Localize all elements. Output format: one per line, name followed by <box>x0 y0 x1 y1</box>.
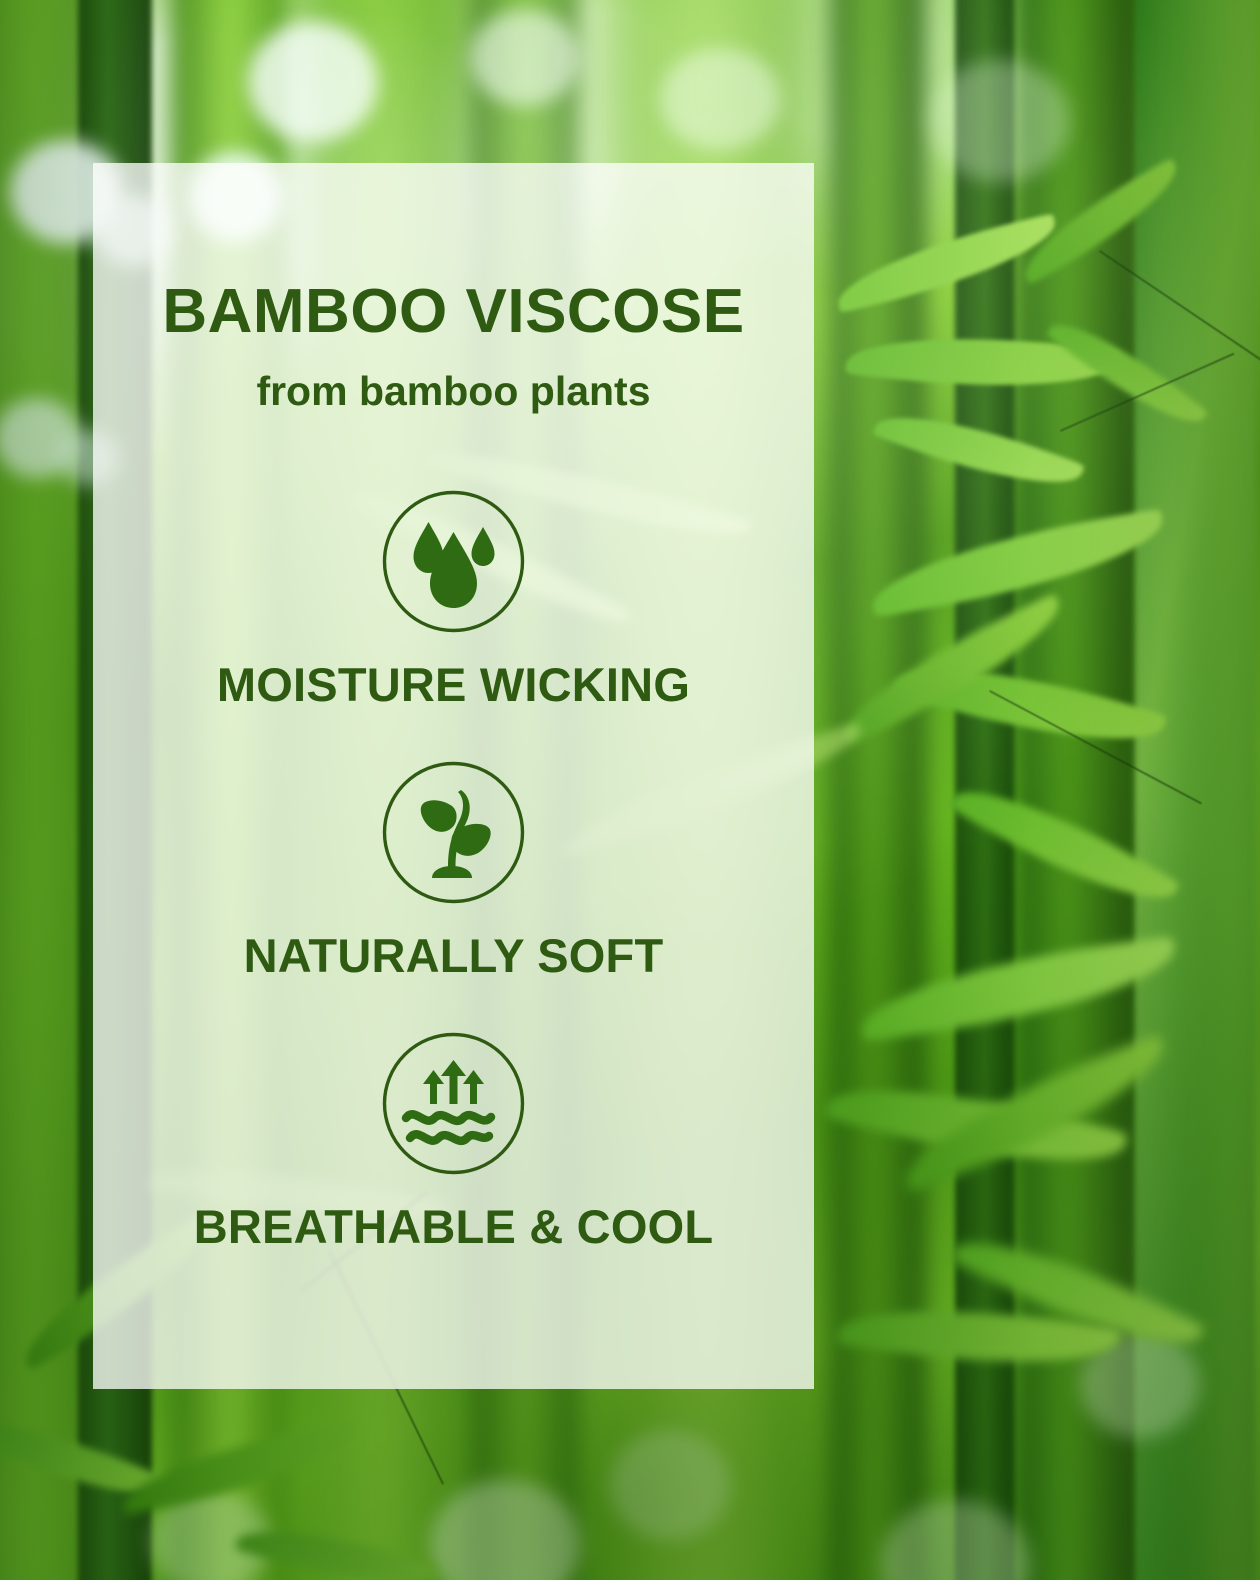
sprout-plant-icon <box>382 761 525 904</box>
breathable-airflow-icon <box>382 1032 525 1175</box>
water-droplets-icon <box>382 490 525 633</box>
feature-item-breathable-cool: BREATHABLE & COOL <box>194 1032 714 1250</box>
page-subtitle: from bamboo plants <box>256 371 650 412</box>
product-feature-poster: BAMBOO VISCOSE from bamboo plants MOISTU… <box>0 0 1260 1580</box>
content-panel: BAMBOO VISCOSE from bamboo plants MOISTU… <box>93 163 814 1389</box>
feature-label-breathable-cool: BREATHABLE & COOL <box>194 1203 714 1250</box>
feature-list: MOISTURE WICKING NATURA <box>93 490 814 1250</box>
feature-label-moisture-wicking: MOISTURE WICKING <box>217 661 690 708</box>
feature-label-naturally-soft: NATURALLY SOFT <box>244 932 664 979</box>
feature-item-moisture-wicking: MOISTURE WICKING <box>217 490 690 708</box>
feature-item-naturally-soft: NATURALLY SOFT <box>244 761 664 979</box>
page-title: BAMBOO VISCOSE <box>162 281 744 343</box>
